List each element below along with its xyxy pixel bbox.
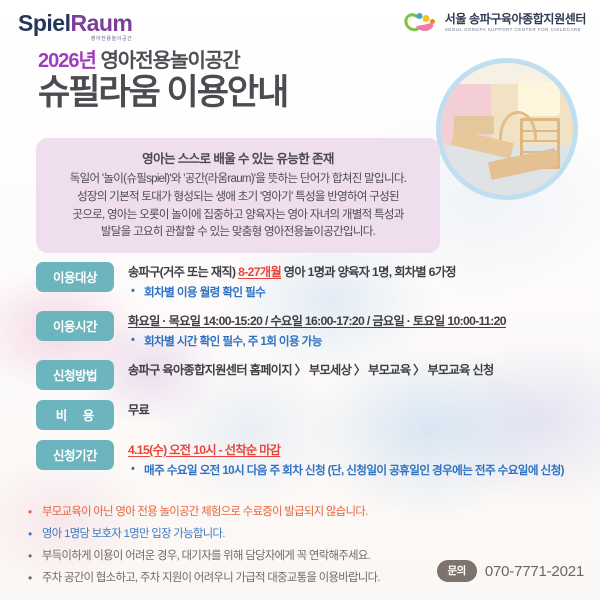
title-year: 2026년	[38, 50, 96, 72]
info-body-hours: 화요일 · 목요일 14:00-15:20 / 수요일 16:00-17:20 …	[128, 311, 576, 350]
info-label-target: 이용대상	[36, 262, 114, 292]
info-note-hours: 회차별 시간 확인 필수, 주 1회 이용 가능	[128, 334, 576, 350]
playroom-photo	[436, 58, 578, 200]
info-main-target: 송파구(거주 또는 재직) 8-27개월 영아 1명과 양육자 1명, 회차별 …	[128, 264, 576, 282]
spielraum-logo: SpielRaum 영아전용놀이공간	[18, 12, 132, 42]
info-label-apply-method: 신청방법	[36, 360, 114, 390]
center-name-korean: 서울 송파구육아종합지원센터	[445, 13, 586, 26]
brand-word-spiel: Spiel	[18, 10, 70, 36]
brand-subtitle: 영아전용놀이공간	[18, 37, 132, 42]
center-logo-text: 서울 송파구육아종합지원센터 SEOUL SONGPA SUPPORT CENT…	[445, 13, 586, 32]
contact-block: 문의 070-7771-2021	[437, 560, 584, 582]
intro-line: 곳으로, 영아는 오롯이 놀이에 집중하고 양육자는 영아 자녀의 개별적 특성…	[50, 207, 426, 225]
info-body-apply-method: 송파구 육아종합지원센터 홈페이지 〉 부모세상 〉 부모교육 〉 부모교육 신…	[128, 360, 576, 380]
brand-wordmark: SpielRaum	[18, 10, 132, 36]
title-line-one: 2026년 영아전용놀이공간	[38, 50, 287, 72]
intro-heading: 영아는 스스로 배울 수 있는 유능한 존재	[50, 148, 426, 167]
info-row-cost: 비 용 무료	[36, 400, 576, 430]
intro-line: 성장의 기본적 토대가 형성되는 생애 초기 '영아기' 특성을 반영하여 구성…	[50, 189, 426, 207]
center-logo: 서울 송파구육아종합지원센터 SEOUL SONGPA SUPPORT CENT…	[404, 11, 586, 35]
info-body-target: 송파구(거주 또는 재직) 8-27개월 영아 1명과 양육자 1명, 회차별 …	[128, 262, 576, 301]
info-list: 이용대상 송파구(거주 또는 재직) 8-27개월 영아 1명과 양육자 1명,…	[36, 262, 576, 489]
info-main-highlight: 8-27개월	[238, 265, 281, 279]
center-emblem-icon	[404, 11, 438, 35]
contact-phone[interactable]: 070-7771-2021	[485, 563, 584, 580]
title-main: 슈필라움 이용안내	[38, 74, 287, 112]
info-label-apply-period: 신청기간	[36, 440, 114, 470]
intro-line: 독일어 '놀이(슈필spiel)'와 '공간(라움raum)'을 뜻하는 단어가…	[50, 171, 426, 189]
info-main-prefix: 송파구(거주 또는 재직)	[128, 265, 238, 279]
intro-box: 영아는 스스로 배울 수 있는 유능한 존재 독일어 '놀이(슈필spiel)'…	[36, 138, 440, 253]
info-label-cost: 비 용	[36, 400, 114, 430]
poster-header: SpielRaum 영아전용놀이공간 서울 송파구육아종합지원센터 SEOUL …	[0, 0, 600, 48]
info-note-apply-period: 매주 수요일 오전 10시 다음 주 회차 신청 (단, 신청일이 공휴일인 경…	[128, 463, 576, 479]
info-main-apply-method: 송파구 육아종합지원센터 홈페이지 〉 부모세상 〉 부모교육 〉 부모교육 신…	[128, 362, 576, 380]
page-title: 2026년 영아전용놀이공간 슈필라움 이용안내	[38, 50, 287, 112]
info-main-apply-period: 4.15(수) 오전 10시 - 선착순 마감	[128, 442, 576, 460]
poster-root: SpielRaum 영아전용놀이공간 서울 송파구육아종합지원센터 SEOUL …	[0, 0, 600, 600]
info-label-hours: 이용시간	[36, 311, 114, 341]
info-main-suffix: 영아 1명과 양육자 1명, 회차별 6가정	[281, 265, 456, 279]
contact-badge: 문의	[437, 560, 477, 582]
photo-frame-rung	[523, 140, 557, 142]
footer-note: 부모교육이 아닌 영아 전용 놀이공간 체험으로 수료증이 발급되지 않습니다.	[26, 504, 574, 520]
title-subject: 영아전용놀이공간	[100, 50, 239, 72]
info-main-hours: 화요일 · 목요일 14:00-15:20 / 수요일 16:00-17:20 …	[128, 313, 576, 331]
center-name-english: SEOUL SONGPA SUPPORT CENTER FOR CHILDCAR…	[445, 28, 586, 33]
footer-note: 영아 1명당 보호자 1명만 입장 가능합니다.	[26, 526, 574, 542]
info-row-hours: 이용시간 화요일 · 목요일 14:00-15:20 / 수요일 16:00-1…	[36, 311, 576, 350]
info-note-target: 회차별 이용 월령 확인 필수	[128, 285, 576, 301]
photo-frame-rung	[523, 130, 557, 132]
info-body-apply-period: 4.15(수) 오전 10시 - 선착순 마감 매주 수요일 오전 10시 다음…	[128, 440, 576, 479]
info-row-target: 이용대상 송파구(거주 또는 재직) 8-27개월 영아 1명과 양육자 1명,…	[36, 262, 576, 301]
info-main-cost: 무료	[128, 402, 576, 420]
info-body-cost: 무료	[128, 400, 576, 420]
info-row-apply-method: 신청방법 송파구 육아종합지원센터 홈페이지 〉 부모세상 〉 부모교육 〉 부…	[36, 360, 576, 390]
brand-word-raum: Raum	[70, 10, 132, 36]
photo-window	[518, 81, 560, 115]
playroom-photo-inner	[441, 63, 573, 195]
intro-line: 발달을 고요히 관찰할 수 있는 맞춤형 영아전용놀이공간입니다.	[50, 224, 426, 242]
info-row-apply-period: 신청기간 4.15(수) 오전 10시 - 선착순 마감 매주 수요일 오전 1…	[36, 440, 576, 479]
